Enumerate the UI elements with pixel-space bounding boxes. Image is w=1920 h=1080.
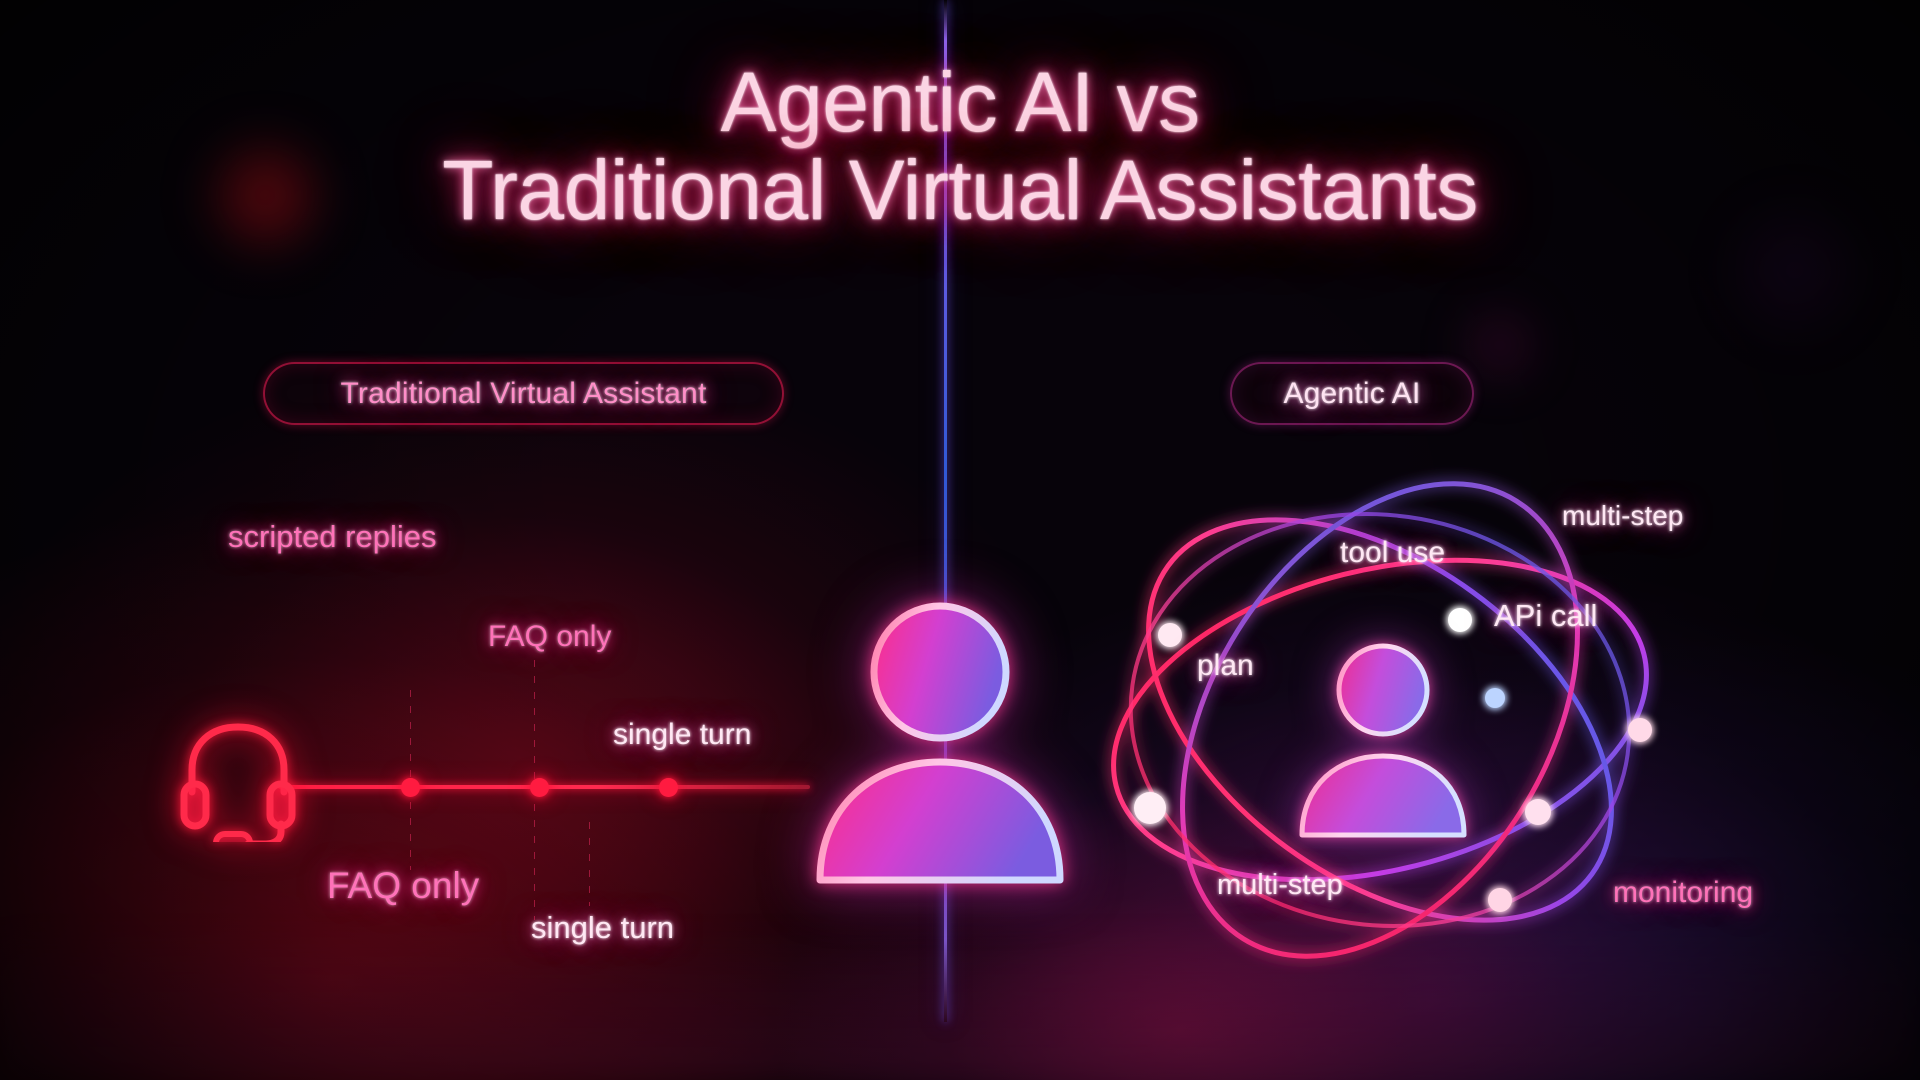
timeline-node-2[interactable] [530,778,549,797]
timeline-node-1[interactable] [401,778,420,797]
label-tool-use: tool use [1340,536,1445,570]
panel-label-agentic-text: Agentic AI [1283,377,1420,411]
label-api-call: APi call [1494,598,1597,634]
agentic-user-icon [1288,638,1478,838]
center-user-icon [800,594,1080,884]
timeline-node-3[interactable] [659,778,678,797]
panel-label-traditional[interactable]: Traditional Virtual Assistant [263,362,784,425]
label-multi-step-bottom: multi-step [1217,869,1343,902]
label-single-turn-top: single turn [613,718,751,752]
label-single-turn-bottom: single turn [531,910,674,946]
label-monitoring: monitoring [1613,876,1753,910]
label-plan: plan [1197,649,1254,683]
label-scripted-replies: scripted replies [228,519,436,555]
label-faq-only-bottom: FAQ only [327,865,479,907]
headset-icon [178,712,298,842]
panel-label-agentic[interactable]: Agentic AI [1230,362,1474,425]
label-faq-only-top: FAQ only [488,620,611,654]
title-line-1: Agentic AI vs [0,58,1920,146]
label-multi-step-top: multi-step [1562,500,1683,532]
title-line-2: Traditional Virtual Assistants [0,146,1920,234]
panel-label-traditional-text: Traditional Virtual Assistant [341,377,707,411]
poster-canvas: Agentic AI vs Traditional Virtual Assist… [0,0,1920,1080]
connector-dashed-3 [589,822,590,906]
page-title: Agentic AI vs Traditional Virtual Assist… [0,58,1920,234]
